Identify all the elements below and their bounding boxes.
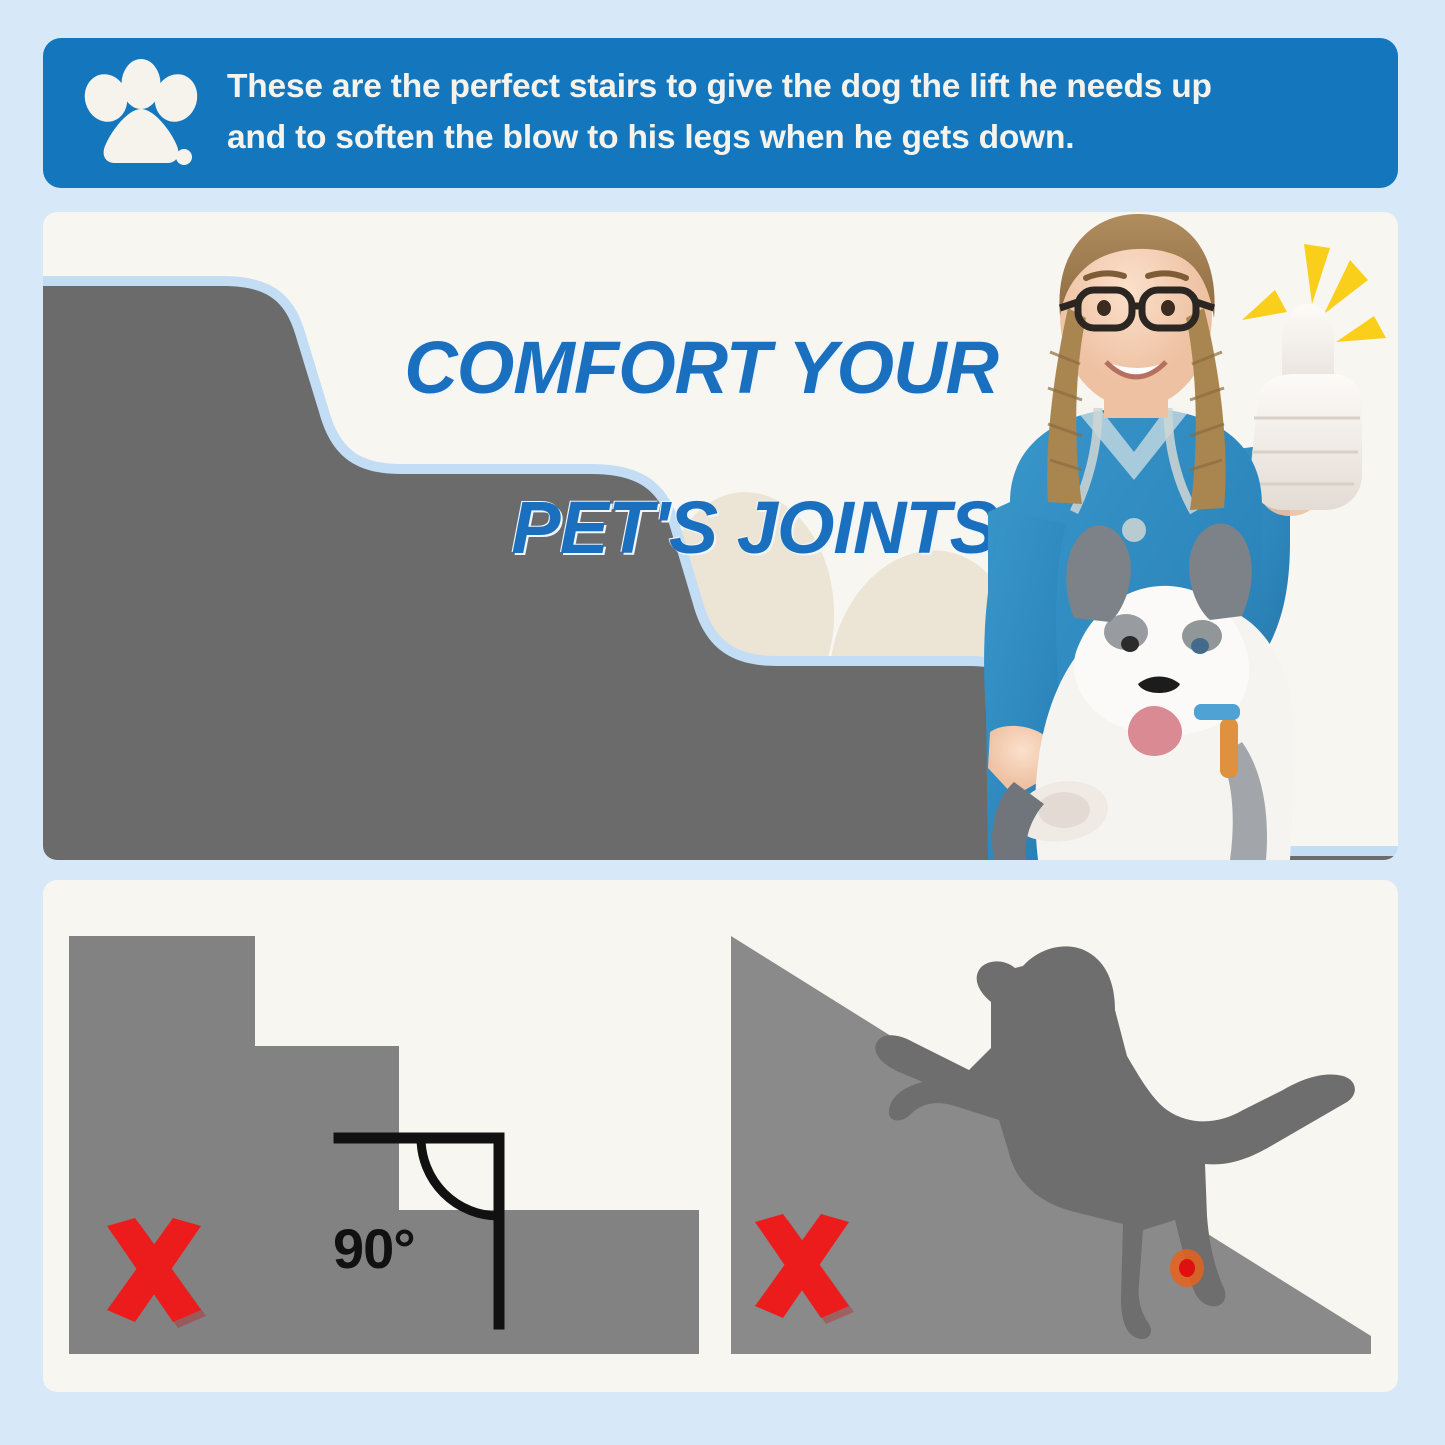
thumbs-up-gloved-hand <box>1250 304 1362 510</box>
veterinarian-photo <box>838 212 1398 860</box>
bad-ramp-illustration <box>723 924 1371 1354</box>
paw-print-icon <box>77 57 205 169</box>
hero-panel: COMFORT YOUR PET'S JOINTS <box>43 212 1398 860</box>
info-banner: These are the perfect stairs to give the… <box>43 38 1398 188</box>
comparison-panel <box>43 880 1398 1392</box>
banner-message: These are the perfect stairs to give the… <box>227 62 1212 164</box>
bad-stairs-illustration <box>69 924 699 1354</box>
advertisement-infographic: These are the perfect stairs to give the… <box>0 0 1445 1445</box>
banner-line-2: and to soften the blow to his legs when … <box>227 113 1212 164</box>
angle-label: 90° <box>333 1216 415 1281</box>
banner-line-1: These are the perfect stairs to give the… <box>227 62 1212 113</box>
